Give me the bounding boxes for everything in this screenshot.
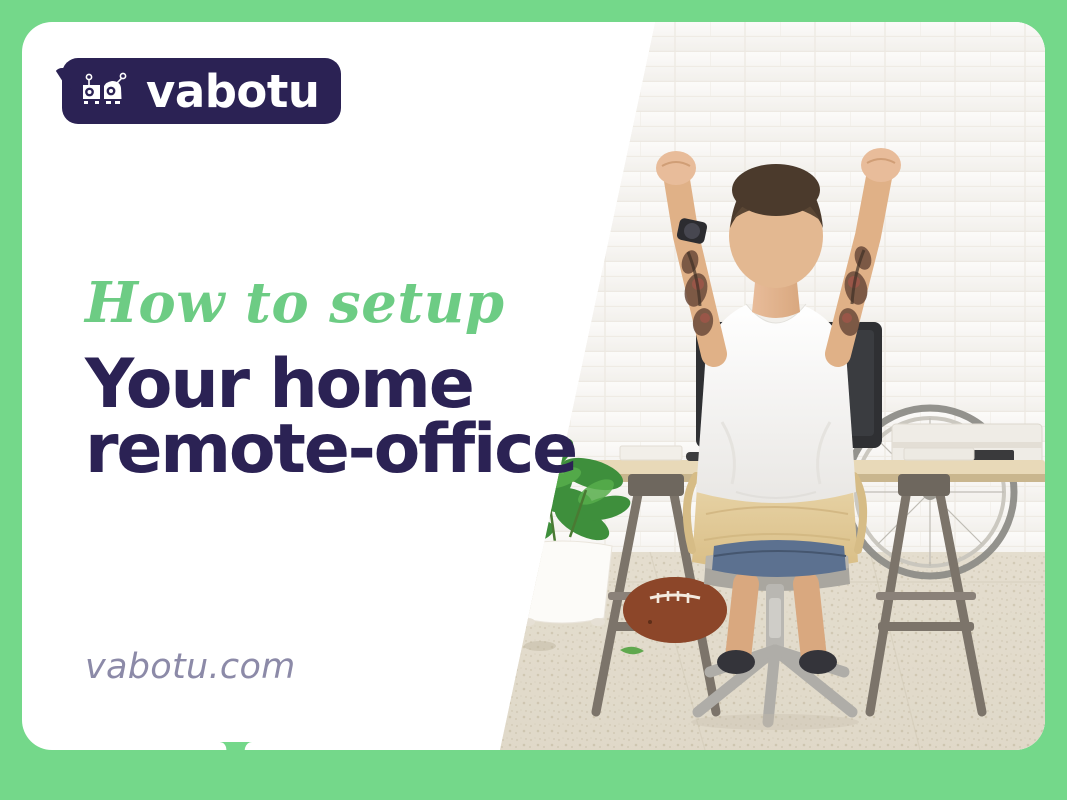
headline-line-2: remote-office xyxy=(85,417,576,482)
vabotu-robot-icon xyxy=(80,71,134,111)
american-football xyxy=(623,577,727,643)
website-url[interactable]: vabotu.com xyxy=(85,647,296,687)
text-column: vabotu How to setup Your home remote-off… xyxy=(22,22,622,750)
card-surface: vabotu How to setup Your home remote-off… xyxy=(22,22,1045,750)
social-card-frame: vabotu How to setup Your home remote-off… xyxy=(0,0,1067,800)
headline-line-1: Your home xyxy=(85,352,576,417)
vabotu-logo-badge[interactable]: vabotu xyxy=(62,58,341,124)
brand-wordmark: vabotu xyxy=(146,69,319,114)
speech-bubble-tail-icon xyxy=(186,742,276,800)
eyebrow-text: How to setup xyxy=(85,274,505,333)
page-title: Your home remote-office xyxy=(85,352,576,483)
